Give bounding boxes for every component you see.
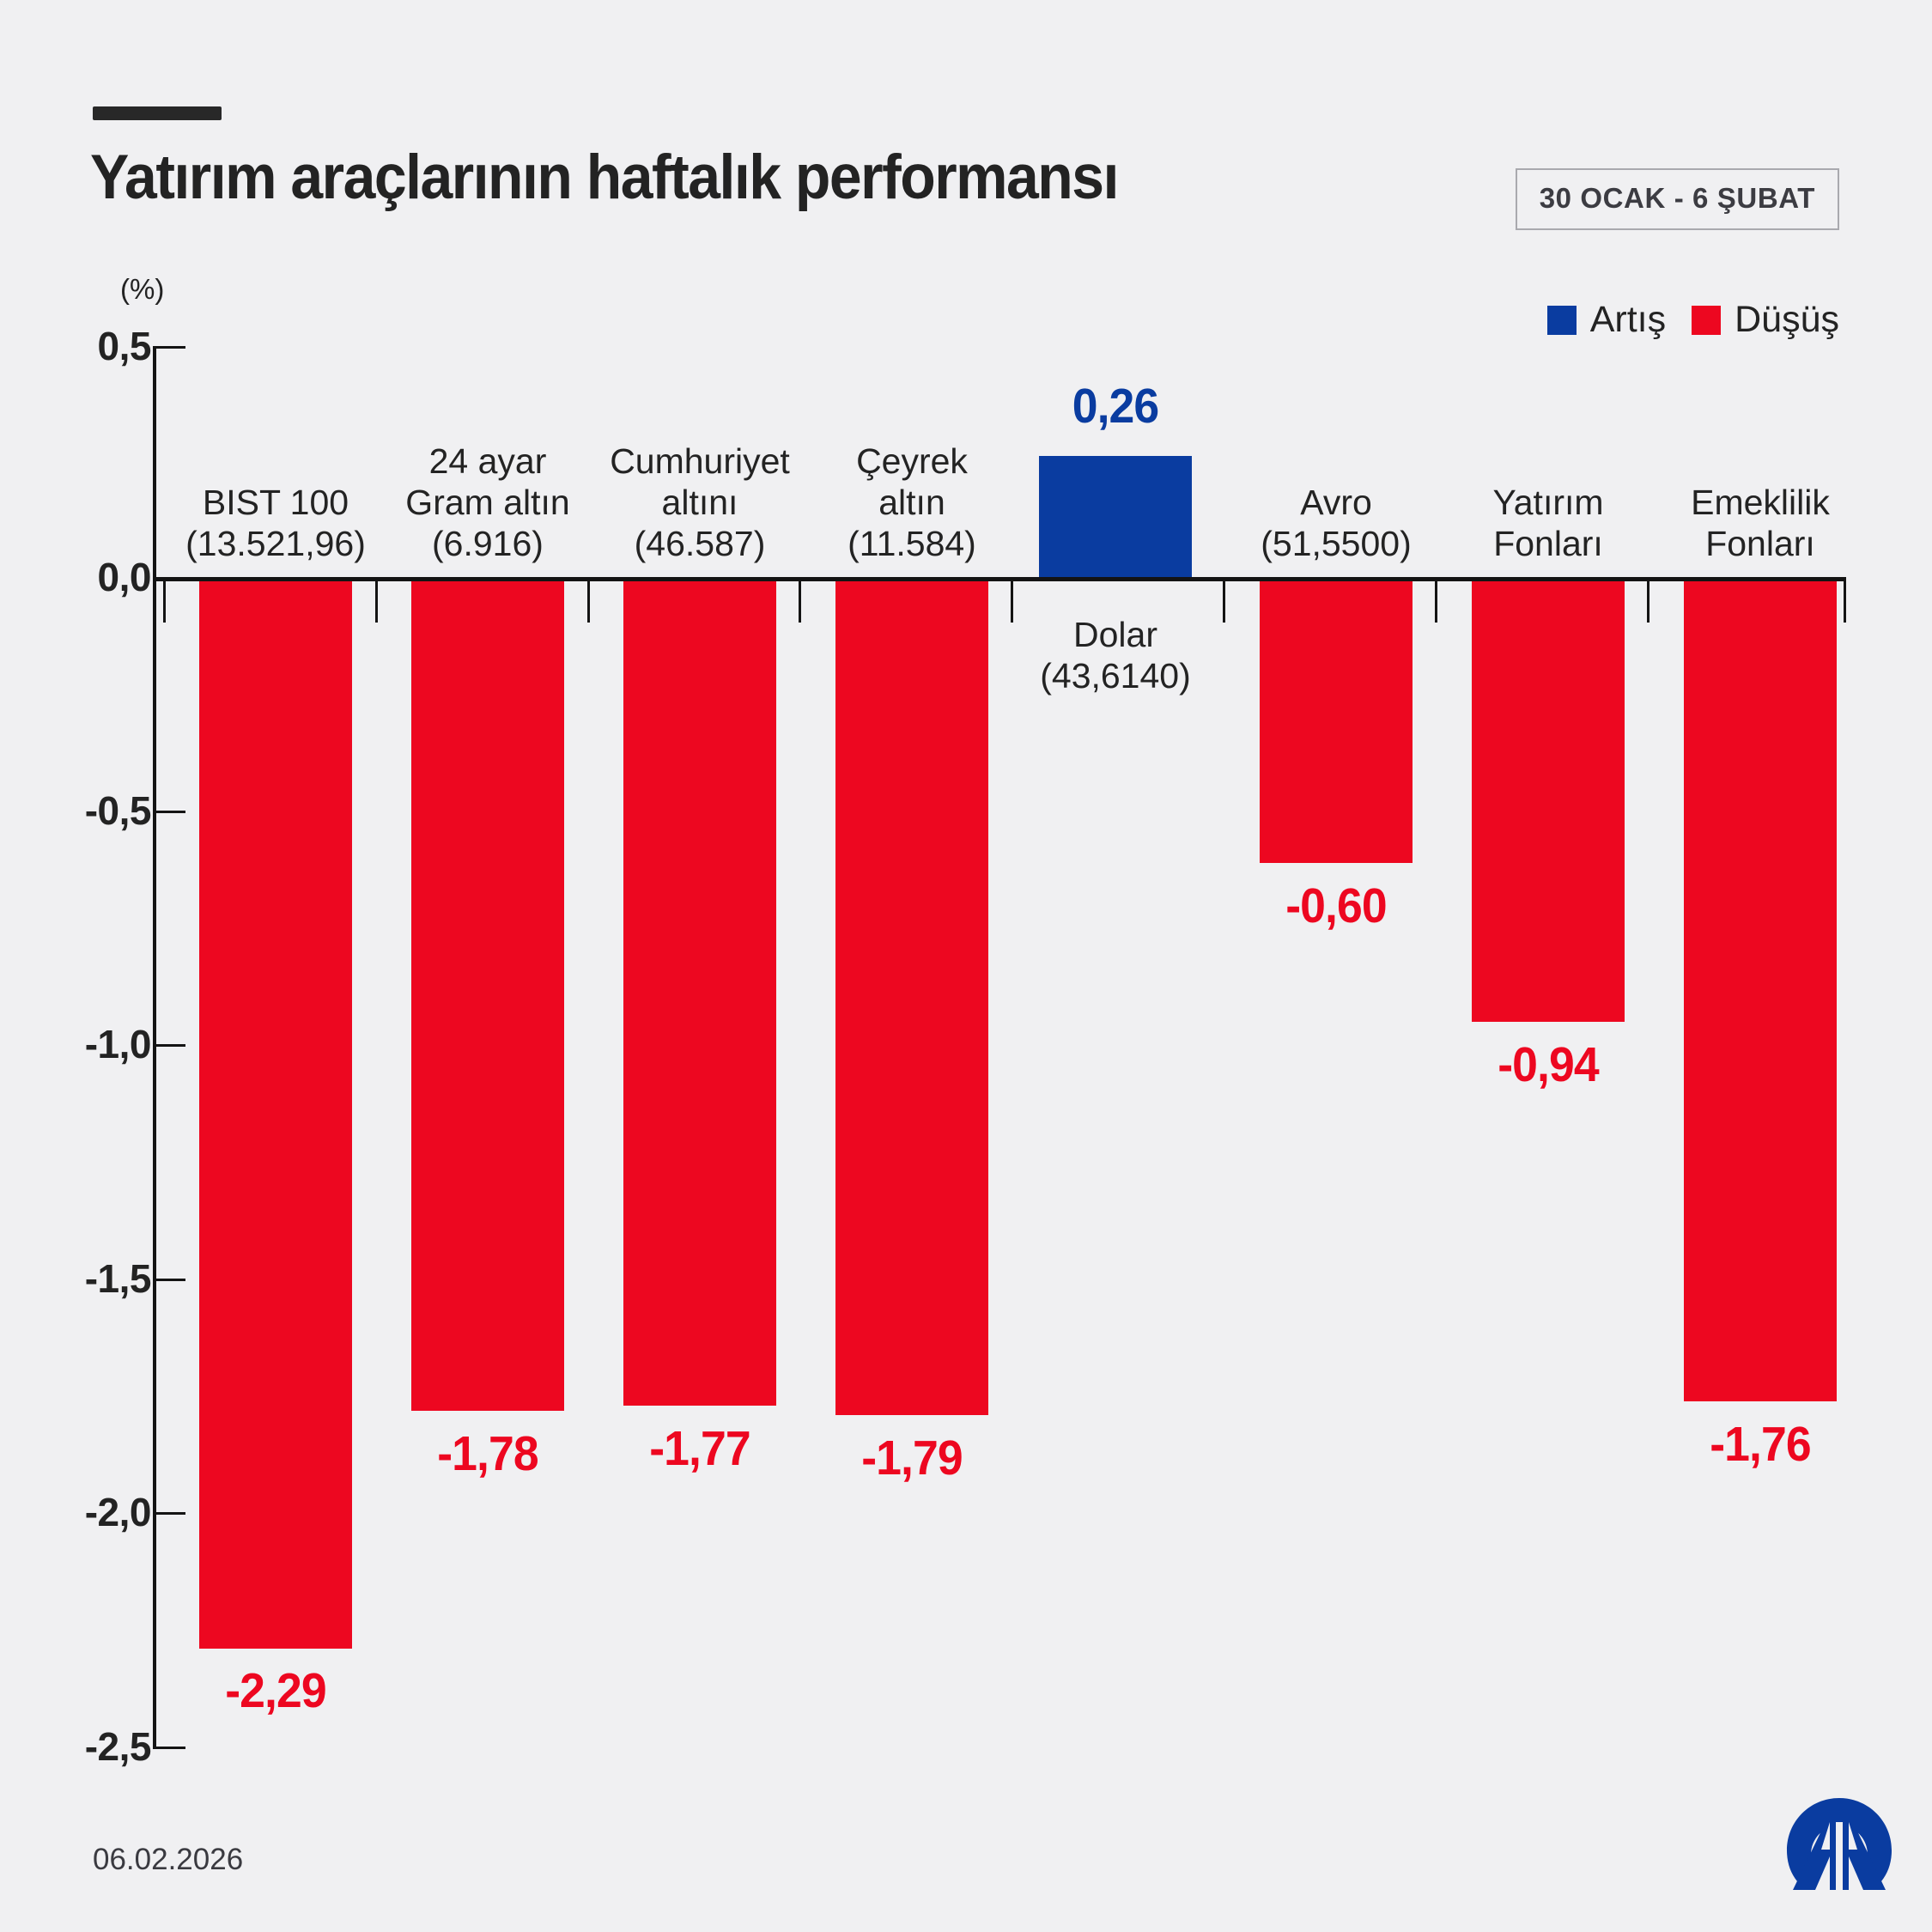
- y-axis-label: -0,5: [85, 787, 151, 834]
- bar-value-label-emeklilik-fonlari: -1,76: [1616, 1416, 1905, 1473]
- legend-label-decrease: Düşüş: [1735, 299, 1839, 341]
- legend-swatch-decrease-icon: [1692, 306, 1721, 335]
- date-stamp: 06.02.2026: [93, 1843, 243, 1877]
- category-line: (43,6140): [962, 655, 1269, 696]
- legend: Artış Düşüş: [1547, 299, 1839, 341]
- y-axis-unit: (%): [120, 273, 164, 306]
- x-tick-mark: [1435, 581, 1437, 623]
- category-line: Dolar: [962, 614, 1269, 655]
- page-title: Yatırım araçlarının haftalık performansı: [90, 142, 1118, 213]
- bar-category-label-emeklilik-fonlari: Emeklilik Fonları: [1607, 482, 1914, 564]
- date-range-badge: 30 OCAK - 6 ŞUBAT: [1516, 168, 1839, 230]
- y-tick-mark: [153, 346, 185, 349]
- bar-category-label-ceyrek-altin: Çeyrek altın (11.584): [758, 440, 1066, 564]
- infographic-canvas: Yatırım araçlarının haftalık performansı…: [0, 0, 1932, 1932]
- y-tick-mark: [153, 811, 185, 813]
- bar-avro[interactable]: [1260, 581, 1413, 863]
- bar-cumhuriyet-altini[interactable]: [623, 581, 776, 1406]
- y-axis-label: 0,5: [98, 323, 151, 369]
- bar-value-label-yatirim-fonlari: -0,94: [1404, 1036, 1693, 1093]
- bar-value-label-avro: -0,60: [1192, 878, 1481, 934]
- x-tick-mark: [799, 581, 801, 623]
- bar-gram-altin[interactable]: [411, 581, 564, 1411]
- bar-bist-100[interactable]: [199, 581, 352, 1649]
- bar-dolar[interactable]: [1039, 456, 1192, 577]
- aa-logo-icon: [1776, 1793, 1903, 1901]
- y-axis-label: -2,5: [85, 1723, 151, 1770]
- bar-value-label-ceyrek-altin: -1,79: [768, 1430, 1057, 1486]
- y-axis-label: -2,0: [85, 1489, 151, 1535]
- y-tick-mark: [153, 1279, 185, 1281]
- legend-swatch-increase-icon: [1547, 306, 1577, 335]
- legend-label-increase: Artış: [1590, 299, 1666, 341]
- category-line: Fonları: [1607, 523, 1914, 564]
- x-tick-mark: [587, 581, 590, 623]
- bar-emeklilik-fonlari[interactable]: [1684, 581, 1837, 1401]
- bar-value-label-dolar: 0,26: [971, 378, 1261, 434]
- y-axis-label: -1,0: [85, 1021, 151, 1067]
- legend-item-decrease: Düşüş: [1692, 299, 1839, 341]
- bar-yatirim-fonlari[interactable]: [1472, 581, 1625, 1022]
- x-tick-mark: [1647, 581, 1649, 623]
- y-tick-mark: [153, 1512, 185, 1515]
- category-line: Çeyrek: [758, 440, 1066, 482]
- y-axis-label: -1,5: [85, 1255, 151, 1302]
- legend-item-increase: Artış: [1547, 299, 1666, 341]
- category-line: (11.584): [758, 523, 1066, 564]
- bar-category-label-dolar: Dolar (43,6140): [962, 614, 1269, 696]
- x-tick-mark: [375, 581, 378, 623]
- bar-value-label-bist-100: -2,29: [131, 1662, 421, 1719]
- x-tick-mark: [163, 581, 166, 623]
- title-rule: [93, 106, 222, 120]
- bar-ceyrek-altin[interactable]: [835, 581, 988, 1415]
- category-line: altın: [758, 482, 1066, 523]
- y-tick-mark: [153, 1044, 185, 1047]
- y-tick-mark: [153, 1747, 185, 1749]
- x-tick-mark: [1844, 581, 1846, 623]
- category-line: Emeklilik: [1607, 482, 1914, 523]
